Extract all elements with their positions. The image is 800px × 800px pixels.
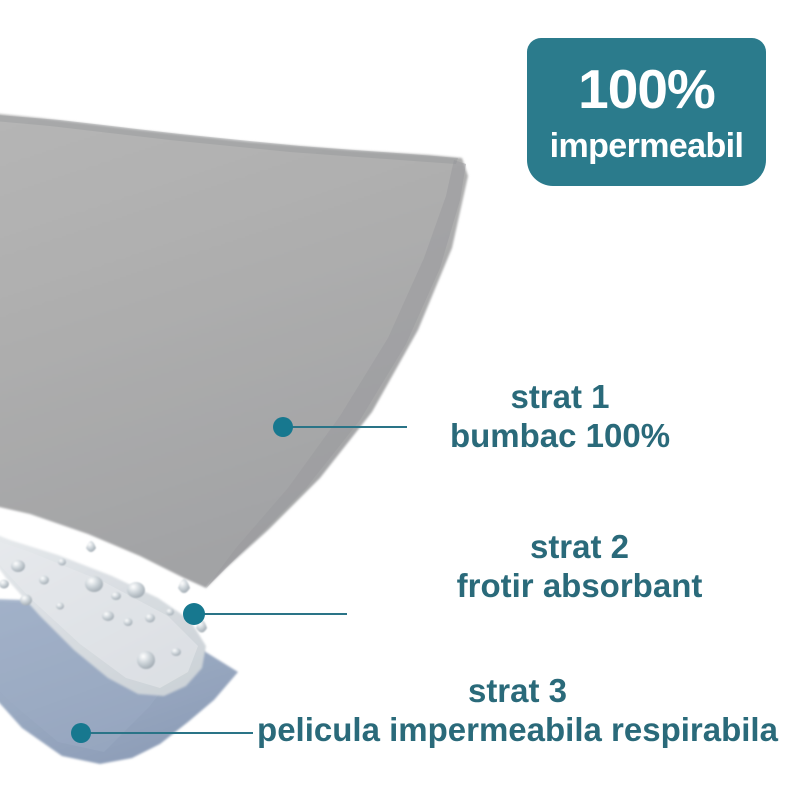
callout-description-3: pelicula impermeabila respirabila xyxy=(255,711,780,750)
callout-label-layer-1: strat 1 bumbac 100% xyxy=(425,378,695,456)
product-layer-diagram: 100% impermeabil strat 1 bumbac 100% str… xyxy=(0,0,800,800)
callout-label-layer-2: strat 2 frotir absorbant xyxy=(432,528,727,606)
badge-primary-text: 100% xyxy=(578,62,715,117)
cotton-top-layer xyxy=(0,110,468,588)
callout-title-3: strat 3 xyxy=(255,672,780,711)
callout-title-1: strat 1 xyxy=(425,378,695,417)
callout-description-1: bumbac 100% xyxy=(425,417,695,456)
callout-title-2: strat 2 xyxy=(432,528,727,567)
callout-label-layer-3: strat 3 pelicula impermeabila respirabil… xyxy=(255,672,780,750)
callout-description-2: frotir absorbant xyxy=(432,567,727,606)
waterproof-badge: 100% impermeabil xyxy=(527,38,766,186)
badge-secondary-text: impermeabil xyxy=(550,129,744,163)
